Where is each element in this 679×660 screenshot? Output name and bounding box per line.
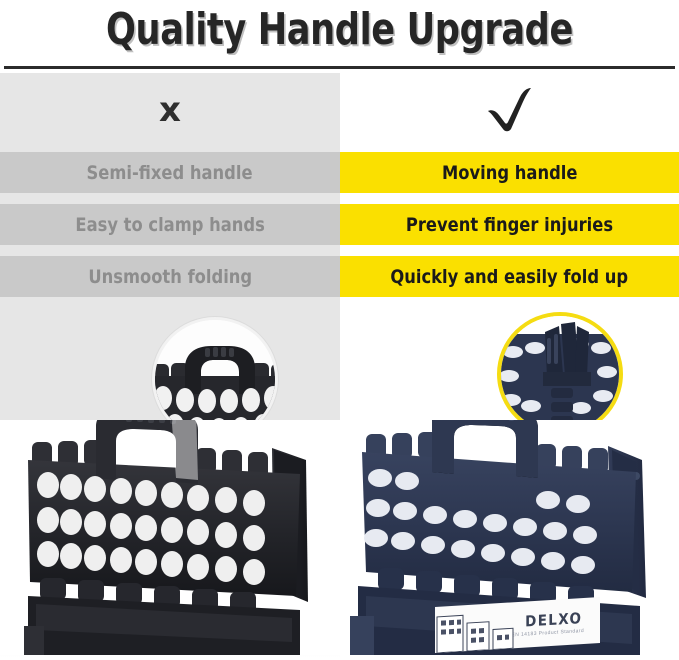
- negative-item-row: Unsmooth folding: [0, 256, 340, 297]
- brand-name: DELXO: [526, 609, 583, 630]
- page-title: Quality Handle Upgrade: [68, 2, 611, 58]
- negative-item-label: Semi-fixed handle: [87, 163, 253, 183]
- positive-item-row: Quickly and easily fold up: [340, 256, 679, 297]
- check-icon: [340, 80, 679, 140]
- negative-item-row: Easy to clamp hands: [0, 204, 340, 245]
- positive-item-label: Prevent finger injuries: [406, 215, 613, 235]
- cross-glyph: x: [159, 93, 181, 127]
- positive-item-label: Quickly and easily fold up: [391, 267, 629, 287]
- product-image-right: DELXO EN 14183 Product Standard: [340, 420, 679, 655]
- negative-item-label: Unsmooth folding: [88, 267, 252, 287]
- negative-item-label: Easy to clamp hands: [75, 215, 264, 235]
- product-image-left: [0, 420, 340, 655]
- negative-item-row: Semi-fixed handle: [0, 152, 340, 193]
- magnifier-right: [497, 312, 623, 436]
- title-divider: [4, 66, 675, 69]
- positive-item-label: Moving handle: [442, 163, 577, 183]
- positive-item-row: Moving handle: [340, 152, 679, 193]
- positive-item-row: Prevent finger injuries: [340, 204, 679, 245]
- cross-icon: x: [0, 80, 340, 140]
- title-area: Quality Handle Upgrade: [0, 0, 679, 69]
